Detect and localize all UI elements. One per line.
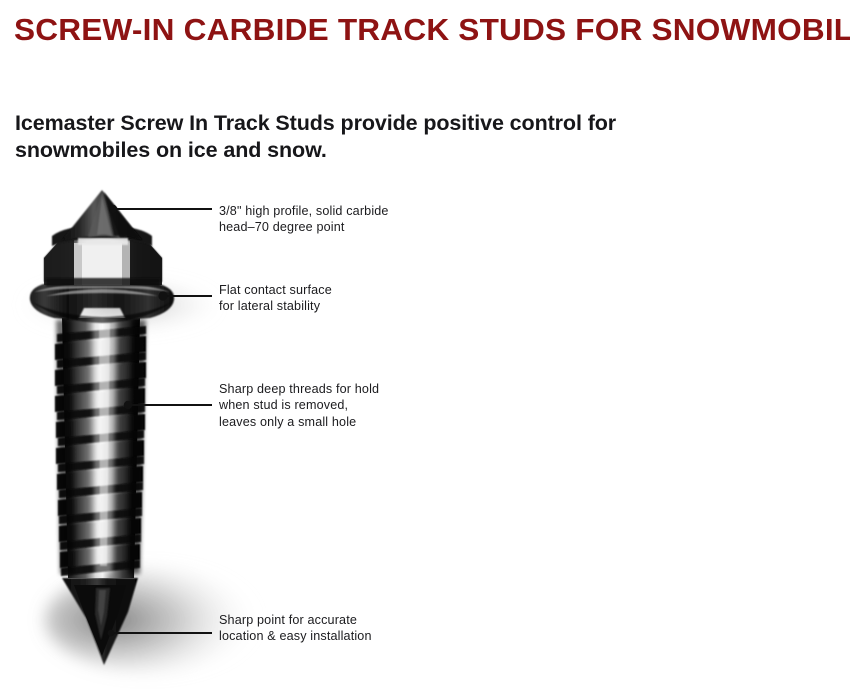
callout-sharp-point: Sharp point for accurate location & easy… — [219, 612, 372, 645]
callout-threads-line-1: Sharp deep threads for hold — [219, 381, 379, 397]
callout-sharp-deep-threads: Sharp deep threads for hold when stud is… — [219, 381, 379, 430]
product-diagram: 3/8" high profile, solid carbide head–70… — [0, 0, 850, 695]
stud-illustration — [0, 0, 850, 695]
callout-point-line-2: location & easy installation — [219, 628, 372, 644]
callout-head-line-2: head–70 degree point — [219, 219, 389, 235]
callout-head-line-1: 3/8" high profile, solid carbide — [219, 203, 389, 219]
callout-carbide-head: 3/8" high profile, solid carbide head–70… — [219, 203, 389, 236]
carbide-cone-head — [52, 190, 152, 246]
callout-flange-line-1: Flat contact surface — [219, 282, 332, 298]
callout-threads-line-3: leaves only a small hole — [219, 414, 379, 430]
threaded-shank — [55, 318, 146, 578]
callout-threads-line-2: when stud is removed, — [219, 397, 379, 413]
leader-line-head — [109, 205, 212, 213]
callout-point-line-1: Sharp point for accurate — [219, 612, 372, 628]
callout-flange-line-2: for lateral stability — [219, 298, 332, 314]
callout-flat-contact-surface: Flat contact surface for lateral stabili… — [219, 282, 332, 315]
hex-head-body — [44, 240, 162, 286]
